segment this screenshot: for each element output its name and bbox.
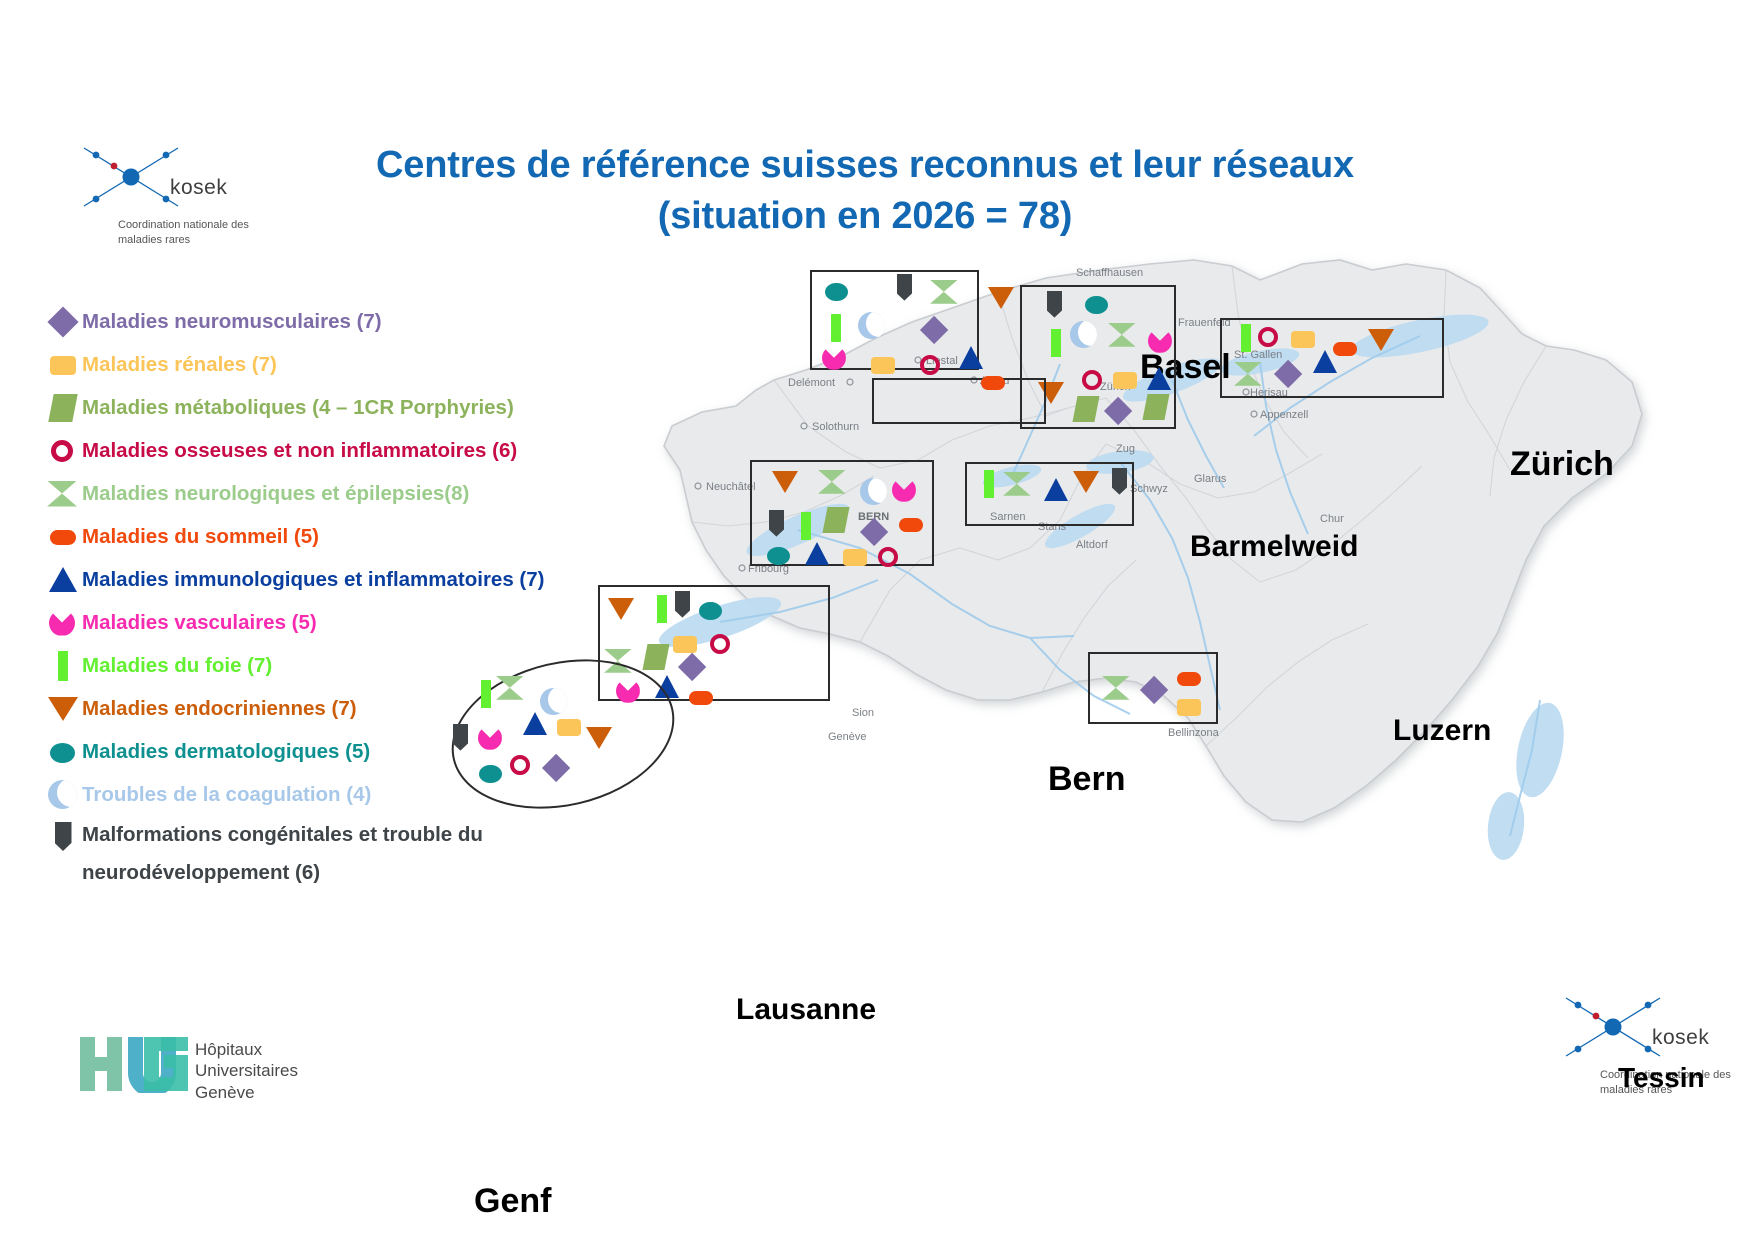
map-icon-bone bbox=[1080, 367, 1106, 393]
map-icon-liver bbox=[977, 470, 1001, 498]
svg-text:Delémont: Delémont bbox=[788, 377, 835, 389]
svg-text:Bellinzona: Bellinzona bbox=[1168, 727, 1220, 739]
legend-label-bone: Maladies osseuses et non inflammatoires … bbox=[82, 439, 517, 463]
pacman-icon bbox=[46, 606, 80, 640]
triangle-down-icon bbox=[46, 692, 80, 726]
map-icon-dermatologic bbox=[698, 597, 724, 623]
map-icon-sleep bbox=[1332, 336, 1358, 362]
map-icon-metabolic bbox=[1142, 393, 1170, 421]
legend-label-sleep: Maladies du sommeil (5) bbox=[82, 525, 319, 549]
kosek-logo-top: kosek Coordination nationale des maladie… bbox=[78, 140, 278, 260]
map-icon-congenital bbox=[1107, 468, 1132, 496]
kosek-caption: Coordination nationale des maladies rare… bbox=[118, 218, 288, 248]
map-icon-sleep bbox=[898, 512, 924, 538]
map-icon-coagulation bbox=[860, 478, 888, 506]
map-icon-neuromuscular bbox=[1140, 676, 1168, 704]
legend-label-vascular: Maladies vasculaires (5) bbox=[82, 611, 317, 635]
svg-text:Zug: Zug bbox=[1116, 443, 1135, 455]
map-icon-liver bbox=[794, 512, 818, 540]
center-icons-barmelweid bbox=[872, 378, 1042, 420]
hug-text: Hôpitaux Universitaires Genève bbox=[195, 1039, 298, 1103]
center-icons-stgallen bbox=[1220, 318, 1440, 394]
bar-icon bbox=[46, 649, 80, 683]
map-icon-endocrine bbox=[772, 468, 800, 495]
map-icon-endocrine bbox=[608, 595, 636, 622]
map-icon-liver bbox=[650, 595, 674, 623]
svg-text:Solothurn: Solothurn bbox=[812, 421, 859, 433]
map-icon-congenital bbox=[892, 274, 917, 302]
ring-icon bbox=[46, 434, 80, 468]
center-icons-luzern bbox=[965, 462, 1130, 522]
kosek-wordmark: kosek bbox=[170, 176, 227, 200]
parallelogram-icon bbox=[46, 391, 80, 425]
map-icon-dermatologic bbox=[478, 760, 504, 786]
map-icon-vascular bbox=[892, 476, 918, 504]
map-icon-endocrine bbox=[1073, 468, 1101, 495]
city-label-luzern: Luzern bbox=[1393, 714, 1491, 748]
shield-icon bbox=[46, 820, 80, 854]
map-icon-neurologic bbox=[1102, 674, 1131, 702]
svg-text:Neuchâtel: Neuchâtel bbox=[706, 481, 756, 493]
legend-label-congenital: Malformations congénitales et trouble du… bbox=[82, 816, 512, 892]
city-label-barmelweid: Barmelweid bbox=[1190, 530, 1358, 564]
map-area: Schaffhausen Frauenfeld St. Gallen Heris… bbox=[560, 230, 1740, 890]
bowtie-icon bbox=[46, 477, 80, 511]
map-icon-immunologic bbox=[1312, 348, 1340, 375]
map-icon-neuromuscular bbox=[1274, 360, 1302, 388]
legend-label-renal: Maladies rénales (7) bbox=[82, 353, 277, 377]
map-icon-bone bbox=[1256, 324, 1282, 350]
legend-label-liver: Maladies du foie (7) bbox=[82, 654, 272, 678]
city-label-bern: Bern bbox=[1048, 760, 1125, 799]
map-icon-liver bbox=[824, 314, 848, 342]
map-icon-renal bbox=[556, 714, 582, 740]
svg-text:Altdorf: Altdorf bbox=[1076, 539, 1109, 551]
map-icon-dermatologic bbox=[824, 278, 850, 304]
city-label-lausanne: Lausanne bbox=[736, 993, 876, 1027]
map-icon-coagulation bbox=[858, 312, 886, 340]
map-icon-neurologic bbox=[818, 468, 847, 496]
svg-text:Glarus: Glarus bbox=[1194, 473, 1227, 485]
map-icon-congenital bbox=[670, 591, 695, 619]
svg-text:Chur: Chur bbox=[1320, 513, 1344, 525]
crescent-icon bbox=[46, 778, 80, 812]
hug-mark-icon bbox=[78, 1035, 190, 1093]
map-icon-neuromuscular bbox=[678, 653, 706, 681]
legend-label-coagulation: Troubles de la coagulation (4) bbox=[82, 783, 371, 807]
svg-text:Appenzell: Appenzell bbox=[1260, 409, 1308, 421]
map-icon-metabolic bbox=[1072, 395, 1100, 423]
map-icon-neuromuscular bbox=[860, 518, 888, 546]
legend-label-neuromuscular: Maladies neuromusculaires (7) bbox=[82, 310, 382, 334]
map-icon-neurologic bbox=[1003, 470, 1032, 498]
city-label-tessin: Tessin bbox=[1618, 1062, 1705, 1094]
map-icon-vascular bbox=[1148, 327, 1174, 355]
legend-label-immunologic: Maladies immunologiques et inflammatoire… bbox=[82, 568, 544, 592]
map-icon-vascular bbox=[478, 724, 504, 752]
map-icon-congenital bbox=[448, 724, 473, 752]
map-icon-congenital bbox=[1042, 291, 1067, 319]
map-icon-congenital bbox=[764, 510, 789, 538]
diamond-icon bbox=[46, 305, 80, 339]
map-icon-liver bbox=[474, 680, 498, 708]
map-icon-bone bbox=[508, 752, 534, 778]
map-icon-neuromuscular bbox=[920, 316, 948, 344]
legend-label-dermatologic: Maladies dermatologiques (5) bbox=[82, 740, 370, 764]
map-icon-neuromuscular bbox=[1104, 397, 1132, 425]
pill-icon bbox=[46, 520, 80, 554]
center-icons-bern bbox=[750, 460, 930, 562]
map-icon-metabolic bbox=[822, 506, 850, 534]
svg-text:Genève: Genève bbox=[828, 731, 867, 743]
legend-label-neurologic: Maladies neurologiques et épilepsies(8) bbox=[82, 482, 469, 506]
map-icon-neurologic bbox=[496, 674, 525, 702]
page-title: Centres de référence suisses reconnus et… bbox=[360, 140, 1370, 243]
map-icon-neuromuscular bbox=[542, 754, 570, 782]
map-icon-renal bbox=[1290, 326, 1316, 352]
map-icon-neurologic bbox=[930, 278, 959, 306]
map-icon-endocrine bbox=[1368, 326, 1396, 353]
map-icon-renal bbox=[1176, 694, 1202, 720]
kosek-wordmark: kosek bbox=[1652, 1026, 1709, 1050]
map-icon-immunologic bbox=[1043, 476, 1071, 503]
svg-text:Sion: Sion bbox=[852, 707, 874, 719]
svg-text:Schwyz: Schwyz bbox=[1130, 483, 1168, 495]
hug-logo: Hôpitaux Universitaires Genève bbox=[78, 1035, 378, 1115]
center-icons-basel bbox=[810, 270, 975, 366]
map-icon-neurologic bbox=[1234, 360, 1263, 388]
city-label-zrich: Zürich bbox=[1510, 445, 1614, 484]
map-icon-dermatologic bbox=[1084, 291, 1110, 317]
map-icon-coagulation bbox=[1070, 321, 1098, 349]
map-icon-coagulation bbox=[540, 688, 568, 716]
map-icon-renal bbox=[1112, 367, 1138, 393]
map-icon-endocrine bbox=[586, 724, 614, 751]
map-icon-bone bbox=[708, 631, 734, 657]
map-icon-liver bbox=[1234, 324, 1258, 352]
map-icon-liver bbox=[1044, 329, 1068, 357]
map-icon-immunologic bbox=[1146, 365, 1174, 392]
ellipse-icon bbox=[46, 735, 80, 769]
center-icons-genf bbox=[450, 662, 672, 802]
legend-label-metabolic: Maladies métaboliques (4 – 1CR Porphyrie… bbox=[82, 396, 514, 420]
rounded-square-icon bbox=[46, 348, 80, 382]
city-label-genf: Genf bbox=[474, 1182, 551, 1221]
map-icon-renal bbox=[672, 631, 698, 657]
center-icons-tessin bbox=[1088, 652, 1214, 720]
map-icon-neurologic bbox=[1108, 321, 1137, 349]
triangle-up-icon bbox=[46, 563, 80, 597]
svg-text:Schaffhausen: Schaffhausen bbox=[1076, 267, 1143, 279]
legend-label-endocrine: Maladies endocriniennes (7) bbox=[82, 697, 357, 721]
title-line-1: Centres de référence suisses reconnus et… bbox=[376, 144, 1354, 186]
map-icon-sleep bbox=[1176, 666, 1202, 692]
map-icon-immunologic bbox=[522, 710, 550, 737]
